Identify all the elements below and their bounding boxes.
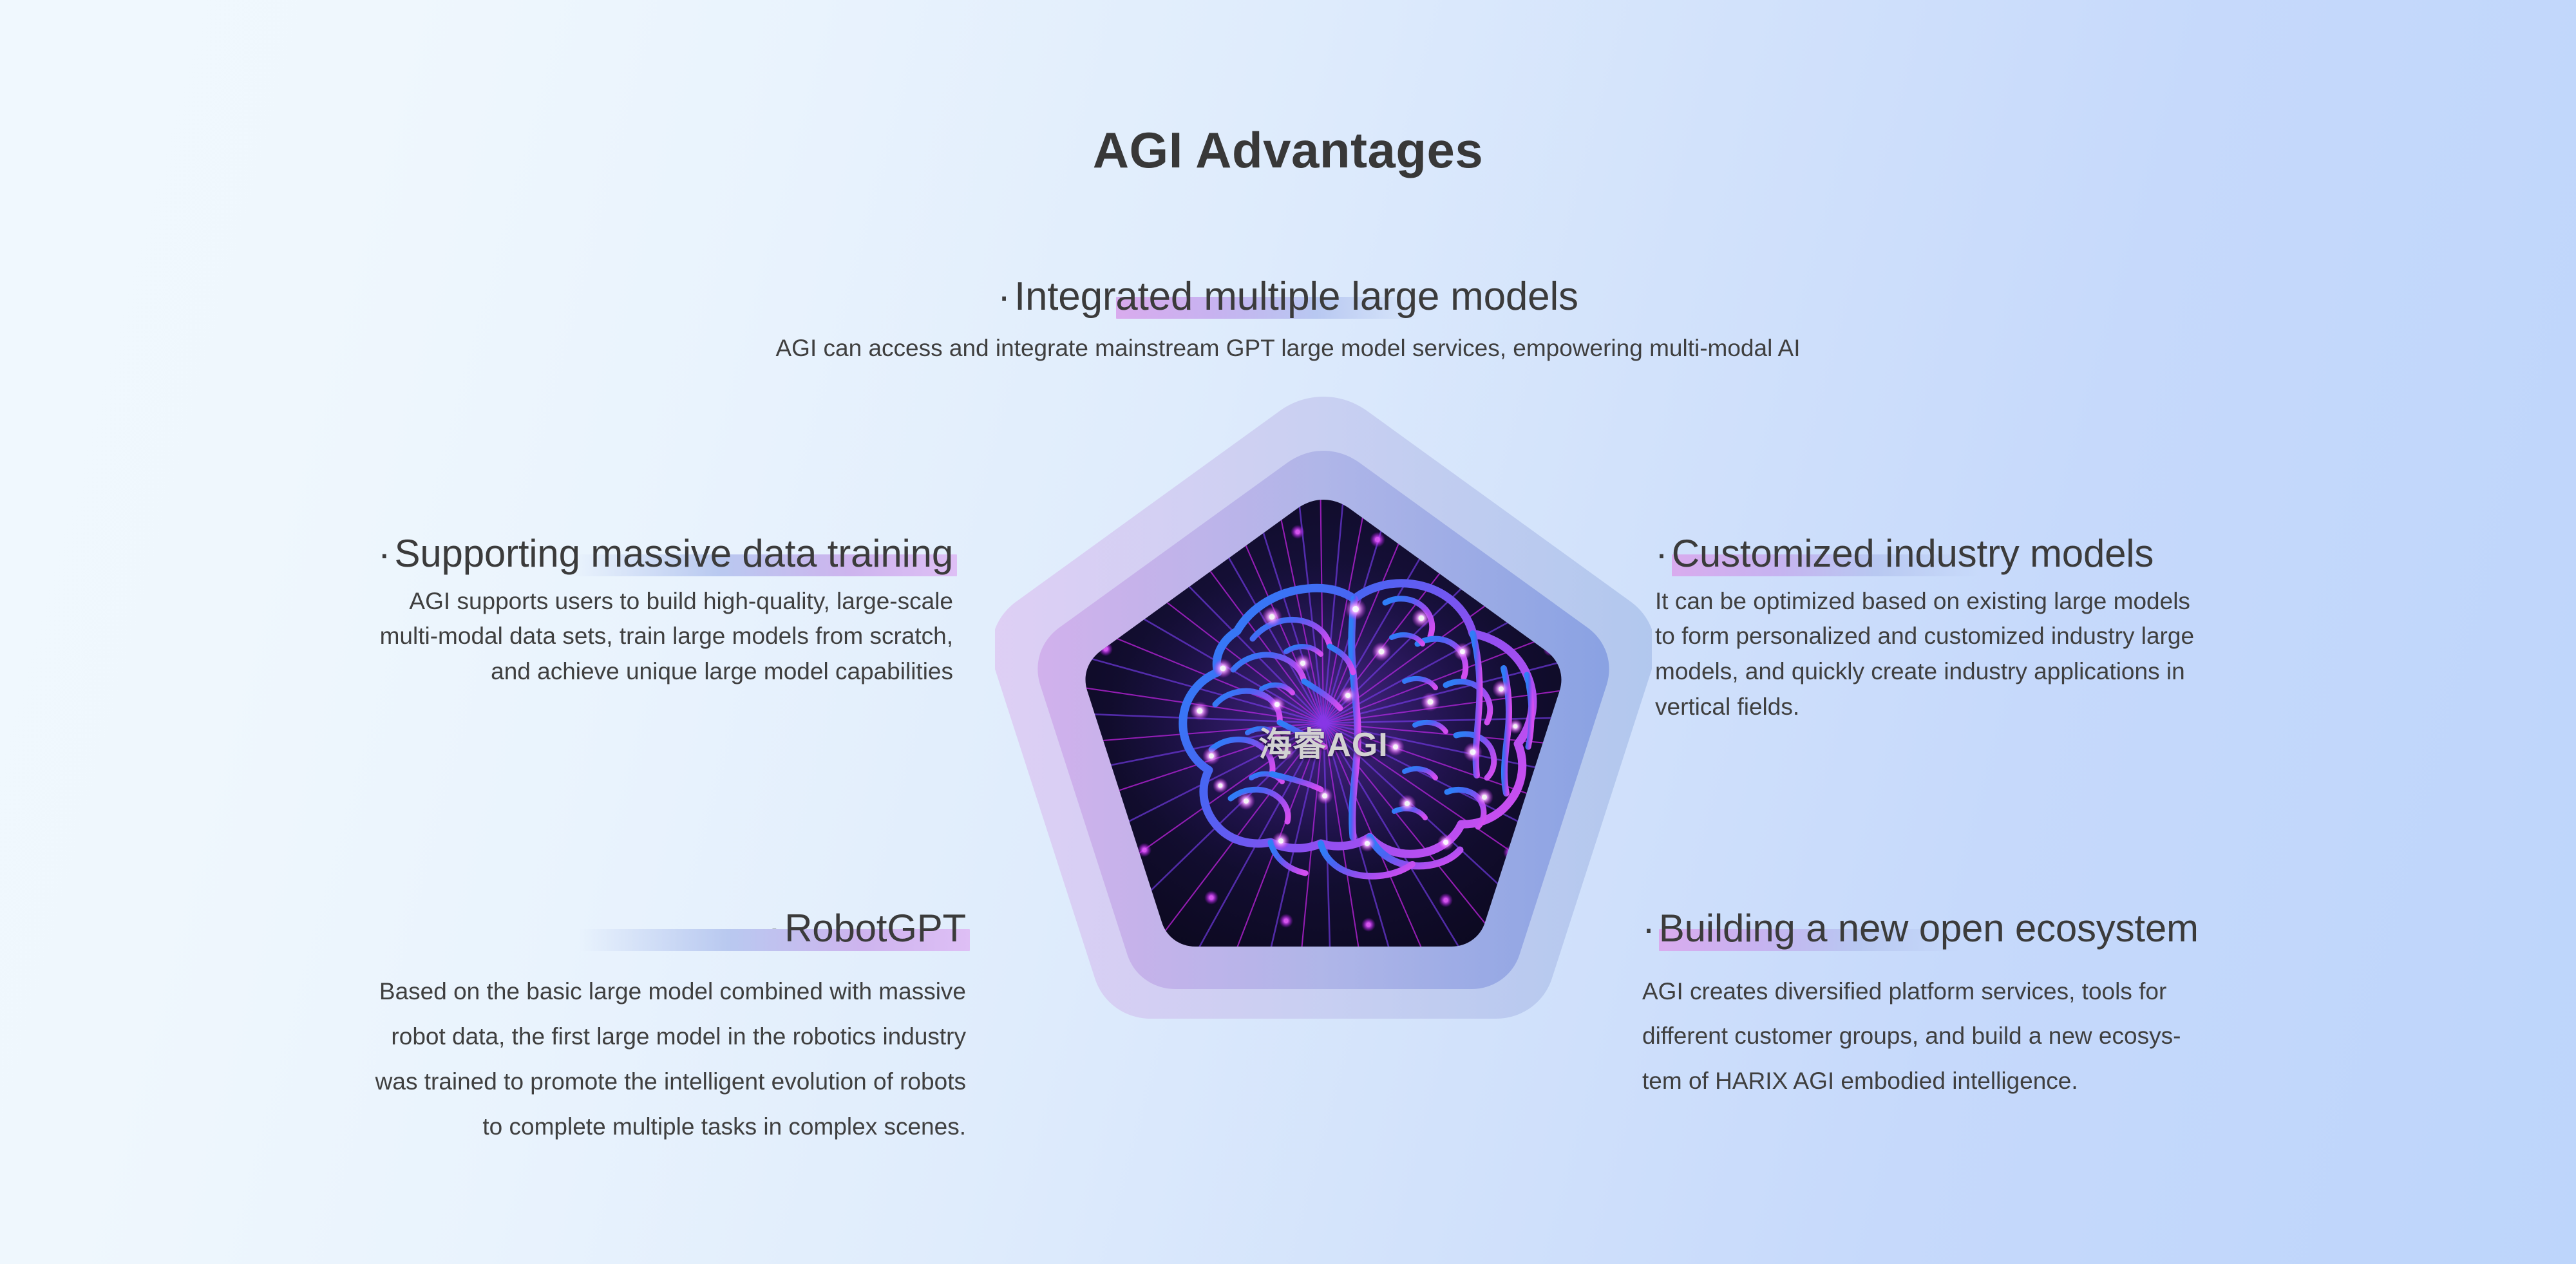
body-line: vertical fields. bbox=[1655, 690, 2557, 725]
heading-text-industry-models: Customized industry models bbox=[1672, 533, 2154, 575]
heading-text-open-ecosystem: Building a new open ecosystem bbox=[1659, 908, 2199, 950]
advantage-block-robotgpt: ·RobotGPT Based on the basic large model… bbox=[26, 908, 966, 1150]
heading-line-left-bottom: ·RobotGPT bbox=[768, 908, 966, 952]
brain-glow bbox=[1111, 562, 1536, 884]
body-line: AGI creates diversified platform service… bbox=[1642, 969, 2557, 1014]
body-line: different customer groups, and build a n… bbox=[1642, 1014, 2557, 1059]
bullet-dot-icon: · bbox=[998, 276, 1010, 317]
body-text-robotgpt: Based on the basic large model combined … bbox=[26, 969, 966, 1150]
body-text-data-training: AGI supports users to build high-quality… bbox=[39, 584, 953, 690]
heading-wrapper-left-bottom: ·RobotGPT bbox=[26, 908, 966, 952]
body-line: models, and quickly create industry appl… bbox=[1655, 654, 2557, 690]
bullet-dot-icon: · bbox=[1655, 533, 1668, 575]
advantage-block-industry-models: ·Customized industry models It can be op… bbox=[1655, 533, 2557, 725]
body-line: to form personalized and customized indu… bbox=[1655, 619, 2557, 654]
advantage-block-open-ecosystem: ·Building a new open ecosystem AGI creat… bbox=[1642, 908, 2557, 1103]
heading-line-left-top: ·Supporting massive data training bbox=[378, 533, 953, 578]
pentagon-brain-illustration bbox=[995, 391, 1652, 1106]
body-line: tem of HARIX AGI embodied intelligence. bbox=[1642, 1059, 2557, 1104]
heading-line-right-bottom: ·Building a new open ecosystem bbox=[1642, 908, 2199, 952]
body-line: robot data, the first large model in the… bbox=[26, 1014, 966, 1059]
heading-wrapper-right-top: ·Customized industry models bbox=[1655, 533, 2557, 578]
central-pentagon-graphic: 海睿AGI bbox=[995, 391, 1652, 1106]
heading-wrapper-top: ·Integrated multiple large models bbox=[0, 276, 2576, 320]
heading-wrapper-right-bottom: ·Building a new open ecosystem bbox=[1642, 908, 2557, 952]
body-text-industry-models: It can be optimized based on existing la… bbox=[1655, 584, 2557, 725]
body-line: It can be optimized based on existing la… bbox=[1655, 584, 2557, 619]
advantage-block-data-training: ·Supporting massive data training AGI su… bbox=[39, 533, 953, 690]
advantage-block-integrated-models: ·Integrated multiple large models AGI ca… bbox=[0, 276, 2576, 368]
body-line: Based on the basic large model combined … bbox=[26, 969, 966, 1014]
heading-text-robotgpt: RobotGPT bbox=[784, 908, 966, 950]
body-line: multi-modal data sets, train large model… bbox=[39, 619, 953, 654]
heading-line-top: ·Integrated multiple large models bbox=[998, 276, 1578, 320]
body-text-open-ecosystem: AGI creates diversified platform service… bbox=[1642, 969, 2557, 1104]
bullet-dot-icon: · bbox=[378, 533, 391, 575]
body-line: and achieve unique large model capabilit… bbox=[39, 654, 953, 690]
body-line: AGI supports users to build high-quality… bbox=[39, 584, 953, 619]
heading-text-integrated-models: Integrated multiple large models bbox=[1014, 276, 1578, 319]
heading-wrapper-left-top: ·Supporting massive data training bbox=[39, 533, 953, 578]
body-line: was trained to promote the intelligent e… bbox=[26, 1059, 966, 1104]
heading-text-data-training: Supporting massive data training bbox=[395, 533, 953, 575]
heading-line-right-top: ·Customized industry models bbox=[1655, 533, 2154, 578]
page-title: AGI Advantages bbox=[0, 121, 2576, 180]
body-line: to complete multiple tasks in complex sc… bbox=[26, 1104, 966, 1149]
body-text-integrated-models: AGI can access and integrate mainstream … bbox=[0, 329, 2576, 368]
